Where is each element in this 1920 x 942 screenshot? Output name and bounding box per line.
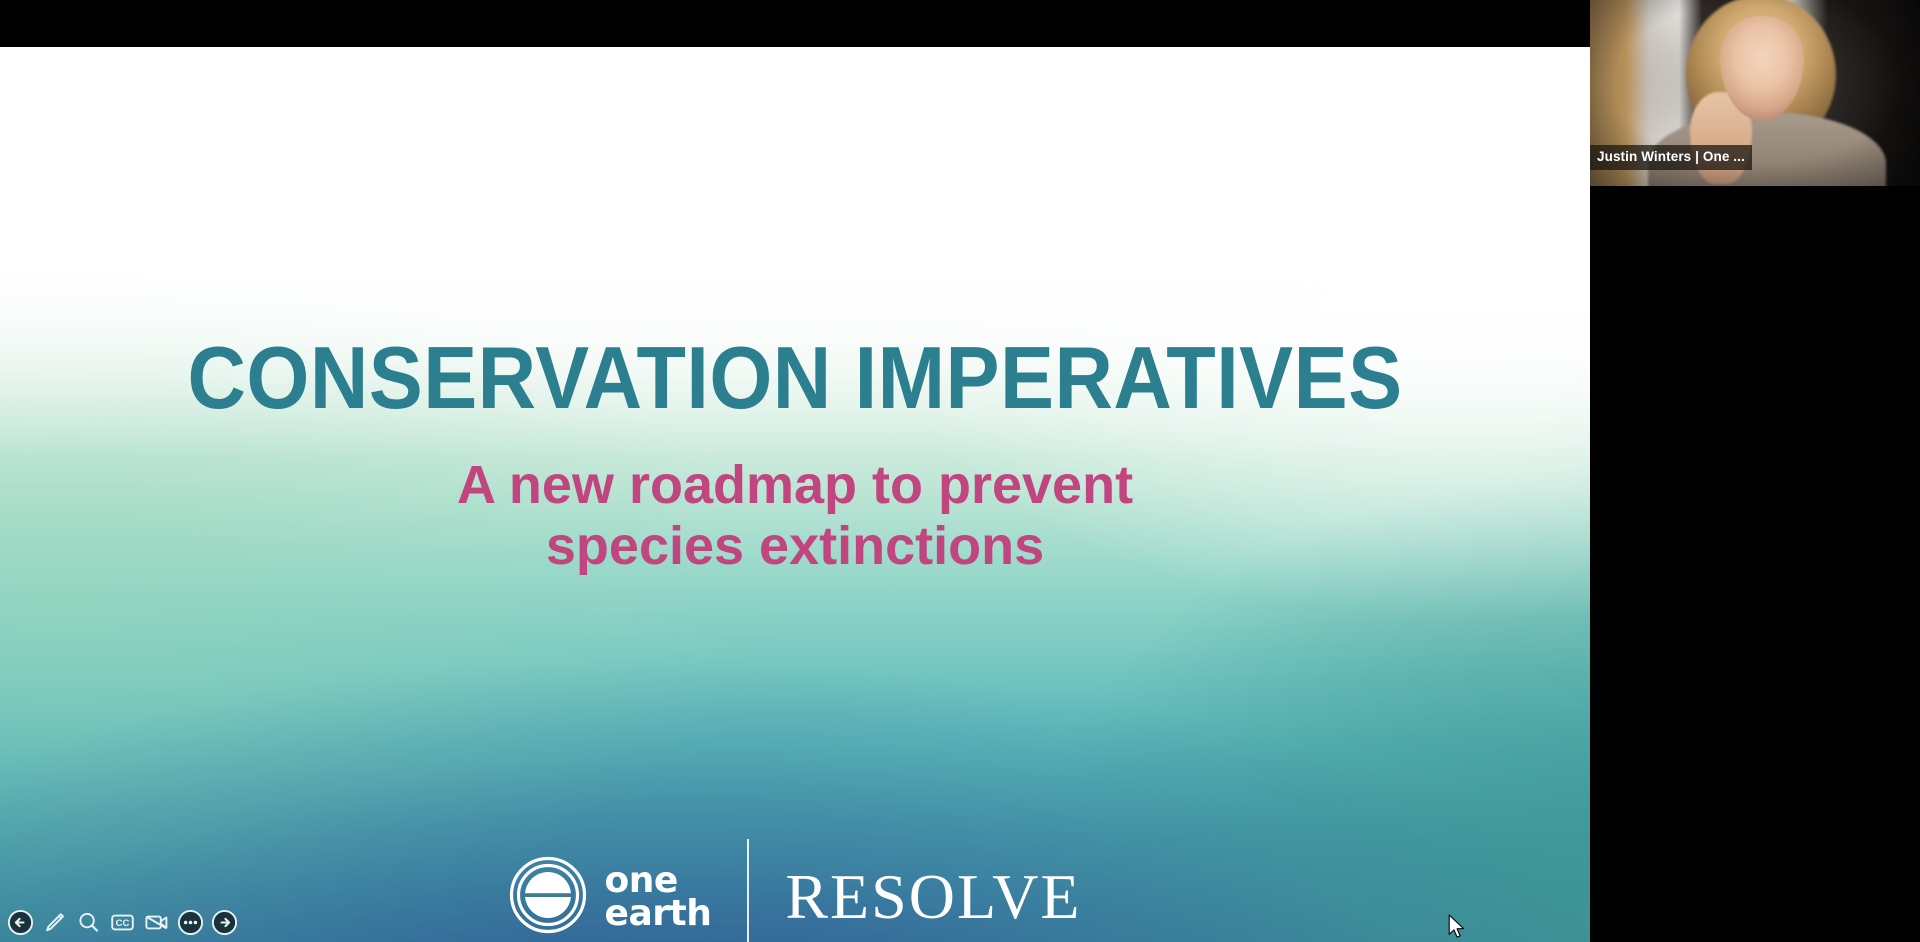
cc-icon: CC (109, 909, 136, 936)
resolve-wordmark: RESOLVE (785, 865, 1081, 929)
arrow-right-circle-icon (211, 909, 238, 936)
magnifier-icon (75, 909, 102, 936)
captions-button[interactable]: CC (106, 906, 138, 938)
participant-name-label: Justin Winters | One ... (1590, 145, 1752, 170)
zoom-button[interactable] (72, 906, 104, 938)
participant-video-tile[interactable]: Justin Winters | One ... (1590, 0, 1920, 186)
participant-video-panel: Justin Winters | One ... (1590, 0, 1920, 942)
annotate-button[interactable] (38, 906, 70, 938)
slide-subtitle: A new roadmap to prevent species extinct… (0, 455, 1590, 577)
arrow-left-circle-icon (7, 909, 34, 936)
presentation-slide: CONSERVATION IMPERATIVES A new roadmap t… (0, 47, 1590, 942)
conference-app-window: CONSERVATION IMPERATIVES A new roadmap t… (0, 0, 1920, 942)
more-options-button[interactable] (174, 906, 206, 938)
slide-content: CONSERVATION IMPERATIVES A new roadmap t… (0, 47, 1590, 942)
one-earth-wordmark: one earth (605, 864, 712, 930)
camera-off-button[interactable] (140, 906, 172, 938)
screen-share-region: CONSERVATION IMPERATIVES A new roadmap t… (0, 0, 1590, 942)
slide-subtitle-line-2: species extinctions (0, 516, 1590, 577)
svg-text:CC: CC (115, 918, 129, 929)
forward-button[interactable] (208, 906, 240, 938)
camera-off-icon (143, 909, 170, 936)
slide-title: CONSERVATION IMPERATIVES (64, 334, 1527, 422)
one-earth-word-earth: earth (605, 897, 712, 930)
one-earth-circle-emblem-icon (509, 856, 587, 939)
ellipsis-circle-icon (177, 909, 204, 936)
one-earth-logo: one earth (509, 856, 712, 939)
letterbox-bar-top (0, 0, 1590, 47)
back-button[interactable] (4, 906, 36, 938)
logo-divider (747, 839, 749, 942)
annotation-toolbar: CC (4, 906, 240, 938)
pencil-icon (41, 909, 68, 936)
slide-subtitle-line-1: A new roadmap to prevent (0, 455, 1590, 516)
